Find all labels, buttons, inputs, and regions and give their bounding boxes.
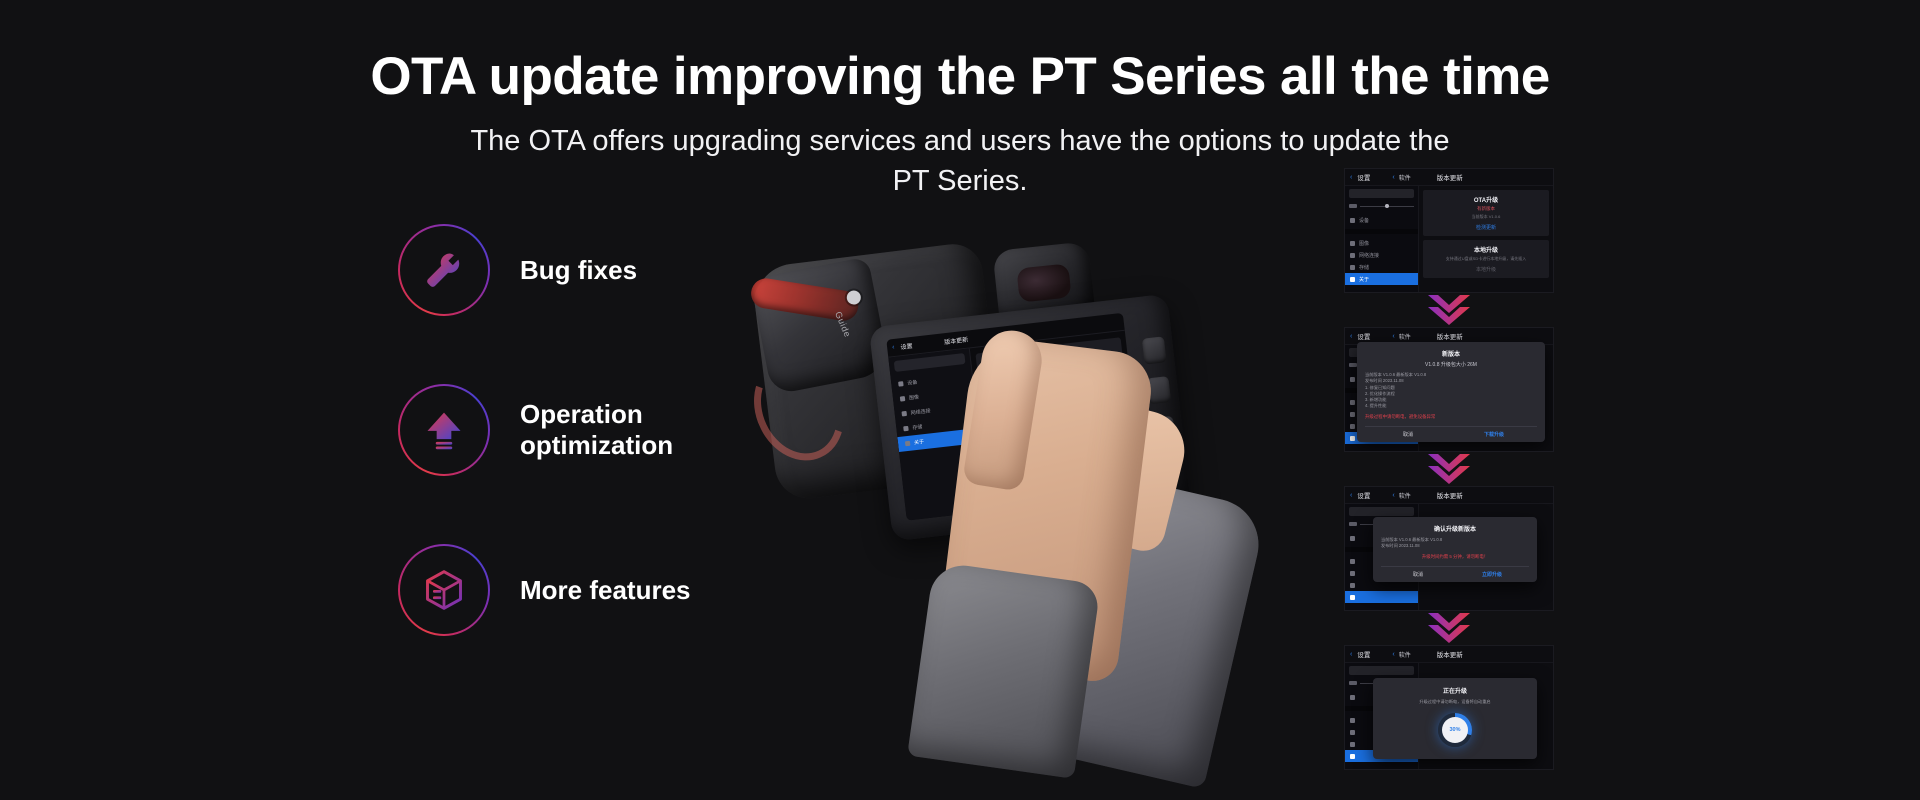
sidebar-search-input[interactable]: [1349, 507, 1414, 516]
panel-subtitle: 软件: [1399, 332, 1411, 341]
item-icon: [1350, 277, 1355, 282]
item-icon: [901, 411, 907, 417]
item-label: 关于: [914, 438, 925, 446]
item-label: 设备: [1359, 217, 1369, 224]
item-icon: [1350, 400, 1355, 405]
back-chevron-icon[interactable]: ‹: [1350, 492, 1352, 499]
feature-label: Operation optimization: [520, 399, 673, 460]
flow-step-upgrading-progress-dialog[interactable]: ‹ 设置 ‹ 软件 版本更新 正在升级 升级过程中请勿断电，设备将自动重启: [1344, 645, 1554, 770]
sidebar-item[interactable]: 设备: [1345, 214, 1418, 226]
modal-title: 正在升级: [1381, 686, 1529, 695]
local-upgrade-card[interactable]: 本地升级 支持通过U盘或SD卡进行本地升级，请先插入 本地升级: [1423, 240, 1549, 278]
item-label: 图像: [1359, 240, 1369, 247]
sidebar-item-selected[interactable]: 关于: [1345, 273, 1418, 285]
page-subtitle: The OTA offers upgrading services and us…: [460, 122, 1460, 201]
upgrade-flow-diagram: ‹ 设置 ‹ 软件 版本更新 设备 图像 网络连接 存储 关于 OTA升级 有新…: [1344, 168, 1554, 770]
flow-step-new-version-dialog[interactable]: ‹ 设置 ‹ 软件 版本更新 新版本 V1.0.8 升级包大小 26M 当前版本…: [1344, 327, 1554, 452]
item-icon: [1350, 742, 1355, 747]
panel-title: 设置: [1357, 331, 1370, 341]
item-icon: [1350, 695, 1355, 700]
sidebar-search-input[interactable]: [1349, 666, 1414, 675]
back-chevron-icon-secondary[interactable]: ‹: [1392, 492, 1394, 499]
panel-top-bar: ‹ 设置 ‹ 软件 版本更新: [1345, 169, 1553, 186]
flow-step-confirm-upgrade-dialog[interactable]: ‹ 设置 ‹ 软件 版本更新 确认升级新版本 当前版本 V1.0.6 最新版本 …: [1344, 486, 1554, 611]
panel-title: 设置: [1357, 490, 1370, 500]
sidebar-item[interactable]: 存储: [1345, 261, 1418, 273]
local-upgrade-link[interactable]: 本地升级: [1427, 266, 1545, 273]
feature-label: More features: [520, 575, 691, 606]
sidebar-item-selected[interactable]: [1345, 591, 1418, 603]
download-upgrade-button[interactable]: 下载升级: [1451, 427, 1537, 442]
card-status: 有新版本: [1427, 206, 1545, 212]
panel-section-title: 版本更新: [1437, 172, 1463, 182]
modal-title: 确认升级新版本: [1381, 524, 1529, 533]
modal-warning-text: 升级过程中请勿断电，避免设备异常: [1365, 414, 1537, 420]
panel-subtitle: 软件: [1399, 491, 1411, 500]
item-icon: [1350, 218, 1355, 223]
item-icon: [1350, 595, 1355, 600]
panel-title: 设置: [1357, 172, 1370, 182]
progress-percent-label: 30%: [1442, 717, 1468, 743]
cancel-button[interactable]: 取消: [1365, 427, 1451, 442]
back-chevron-icon[interactable]: ‹: [1350, 651, 1352, 658]
hardware-button[interactable]: [1142, 336, 1167, 364]
panel-subtitle: 软件: [1399, 650, 1411, 659]
flow-arrow-down-icon: [1344, 452, 1554, 486]
item-icon: [1350, 253, 1355, 258]
back-chevron-icon[interactable]: ‹: [1350, 333, 1352, 340]
sidebar-item[interactable]: 网络连接: [1345, 249, 1418, 261]
item-icon: [1350, 730, 1355, 735]
upload-arrow-icon: [398, 384, 490, 476]
item-icon: [898, 381, 904, 387]
item-label: 网络连接: [1359, 252, 1379, 259]
screen-title-right: 版本更新: [944, 335, 969, 347]
modal-version: V1.0.8 升级包大小 26M: [1365, 361, 1537, 368]
panel-content: OTA升级 有新版本 当前版本 V1.0.6 检测更新 本地升级 支持通过U盘或…: [1419, 186, 1553, 293]
item-icon: [1350, 754, 1355, 759]
check-update-link[interactable]: 检测更新: [1427, 224, 1545, 231]
item-icon: [1350, 377, 1355, 382]
screen-title-left: 设置: [900, 341, 913, 351]
sleeve-left: [907, 561, 1101, 778]
panel-section-title: 版本更新: [1437, 649, 1463, 659]
panel-top-bar: ‹ 设置 ‹ 软件 版本更新: [1345, 487, 1553, 504]
panel-top-bar: ‹ 设置 ‹ 软件 版本更新: [1345, 646, 1553, 663]
cube-box-icon: [398, 544, 490, 636]
wrench-icon: [398, 224, 490, 316]
modal-title: 新版本: [1365, 349, 1537, 358]
item-label: 存储: [1359, 264, 1369, 271]
feature-label: Bug fixes: [520, 255, 637, 286]
card-subtext: 支持通过U盘或SD卡进行本地升级，请先插入: [1427, 256, 1545, 262]
device-photo: Guide ‹ 设置 版本更新 设备 图像 网络连接 存储 关: [750, 232, 1350, 762]
upgrading-progress-modal: 正在升级 升级过程中请勿断电，设备将自动重启 30%: [1373, 678, 1537, 759]
flow-step-settings-ota-entry[interactable]: ‹ 设置 ‹ 软件 版本更新 设备 图像 网络连接 存储 关于 OTA升级 有新…: [1344, 168, 1554, 293]
new-version-modal[interactable]: 新版本 V1.0.8 升级包大小 26M 当前版本 V1.0.6 最新版本 V1…: [1357, 342, 1545, 442]
item-icon: [900, 396, 906, 402]
back-chevron-icon-secondary[interactable]: ‹: [1392, 333, 1394, 340]
item-icon: [1350, 571, 1355, 576]
card-subtext: 当前版本 V1.0.6: [1427, 214, 1545, 220]
cancel-button[interactable]: 取消: [1381, 567, 1455, 582]
item-icon: [1350, 436, 1355, 441]
panel-title: 设置: [1357, 649, 1370, 659]
sidebar-search-input[interactable]: [1349, 189, 1414, 198]
ota-upgrade-card[interactable]: OTA升级 有新版本 当前版本 V1.0.6 检测更新: [1423, 190, 1549, 236]
item-icon: [1350, 265, 1355, 270]
modal-body-text: 当前版本 V1.0.6 最新版本 V1.0.8 发布时间 2023.11.08: [1381, 537, 1529, 550]
flow-arrow-down-icon: [1344, 293, 1554, 327]
item-label: 存储: [912, 423, 923, 431]
item-icon: [1350, 424, 1355, 429]
confirm-upgrade-modal[interactable]: 确认升级新版本 当前版本 V1.0.6 最新版本 V1.0.8 发布时间 202…: [1373, 517, 1537, 582]
item-icon: [903, 426, 909, 432]
page-title: OTA update improving the PT Series all t…: [0, 46, 1920, 107]
back-chevron-icon-secondary[interactable]: ‹: [1392, 174, 1394, 181]
panel-sidebar: 设备 图像 网络连接 存储 关于: [1345, 186, 1419, 293]
item-label: 图像: [909, 393, 920, 401]
item-label: 网络连接: [910, 407, 931, 416]
item-icon: [1350, 718, 1355, 723]
item-icon: [905, 441, 911, 447]
item-label: 设备: [907, 379, 918, 387]
panel-section-title: 版本更新: [1437, 490, 1463, 500]
panel-subtitle: 软件: [1399, 173, 1411, 182]
panel-section-title: 版本更新: [1437, 331, 1463, 341]
item-icon: [1350, 583, 1355, 588]
progress-ring-icon: 30%: [1438, 713, 1472, 747]
sidebar-divider: [1345, 229, 1418, 234]
back-chevron-icon[interactable]: ‹: [1350, 174, 1352, 181]
item-icon: [1350, 536, 1355, 541]
item-icon: [1350, 241, 1355, 246]
back-chevron-icon[interactable]: ‹: [892, 344, 895, 351]
sidebar-item[interactable]: 图像: [1345, 237, 1418, 249]
flow-arrow-down-icon: [1344, 611, 1554, 645]
modal-body-text: 当前版本 V1.0.6 最新版本 V1.0.8 发布时间 2023.11.08 …: [1365, 372, 1537, 410]
card-title: OTA升级: [1427, 195, 1545, 204]
card-title: 本地升级: [1427, 245, 1545, 254]
sidebar-slider[interactable]: [1349, 202, 1414, 210]
item-icon: [1350, 559, 1355, 564]
item-icon: [1350, 412, 1355, 417]
upgrade-now-button[interactable]: 立即升级: [1455, 567, 1529, 582]
back-chevron-icon-secondary[interactable]: ‹: [1392, 651, 1394, 658]
modal-warning-text: 升级时间约需 5 分钟，请勿断电！: [1381, 554, 1529, 560]
item-label: 关于: [1359, 276, 1369, 283]
modal-body-text: 升级过程中请勿断电，设备将自动重启: [1381, 699, 1529, 705]
